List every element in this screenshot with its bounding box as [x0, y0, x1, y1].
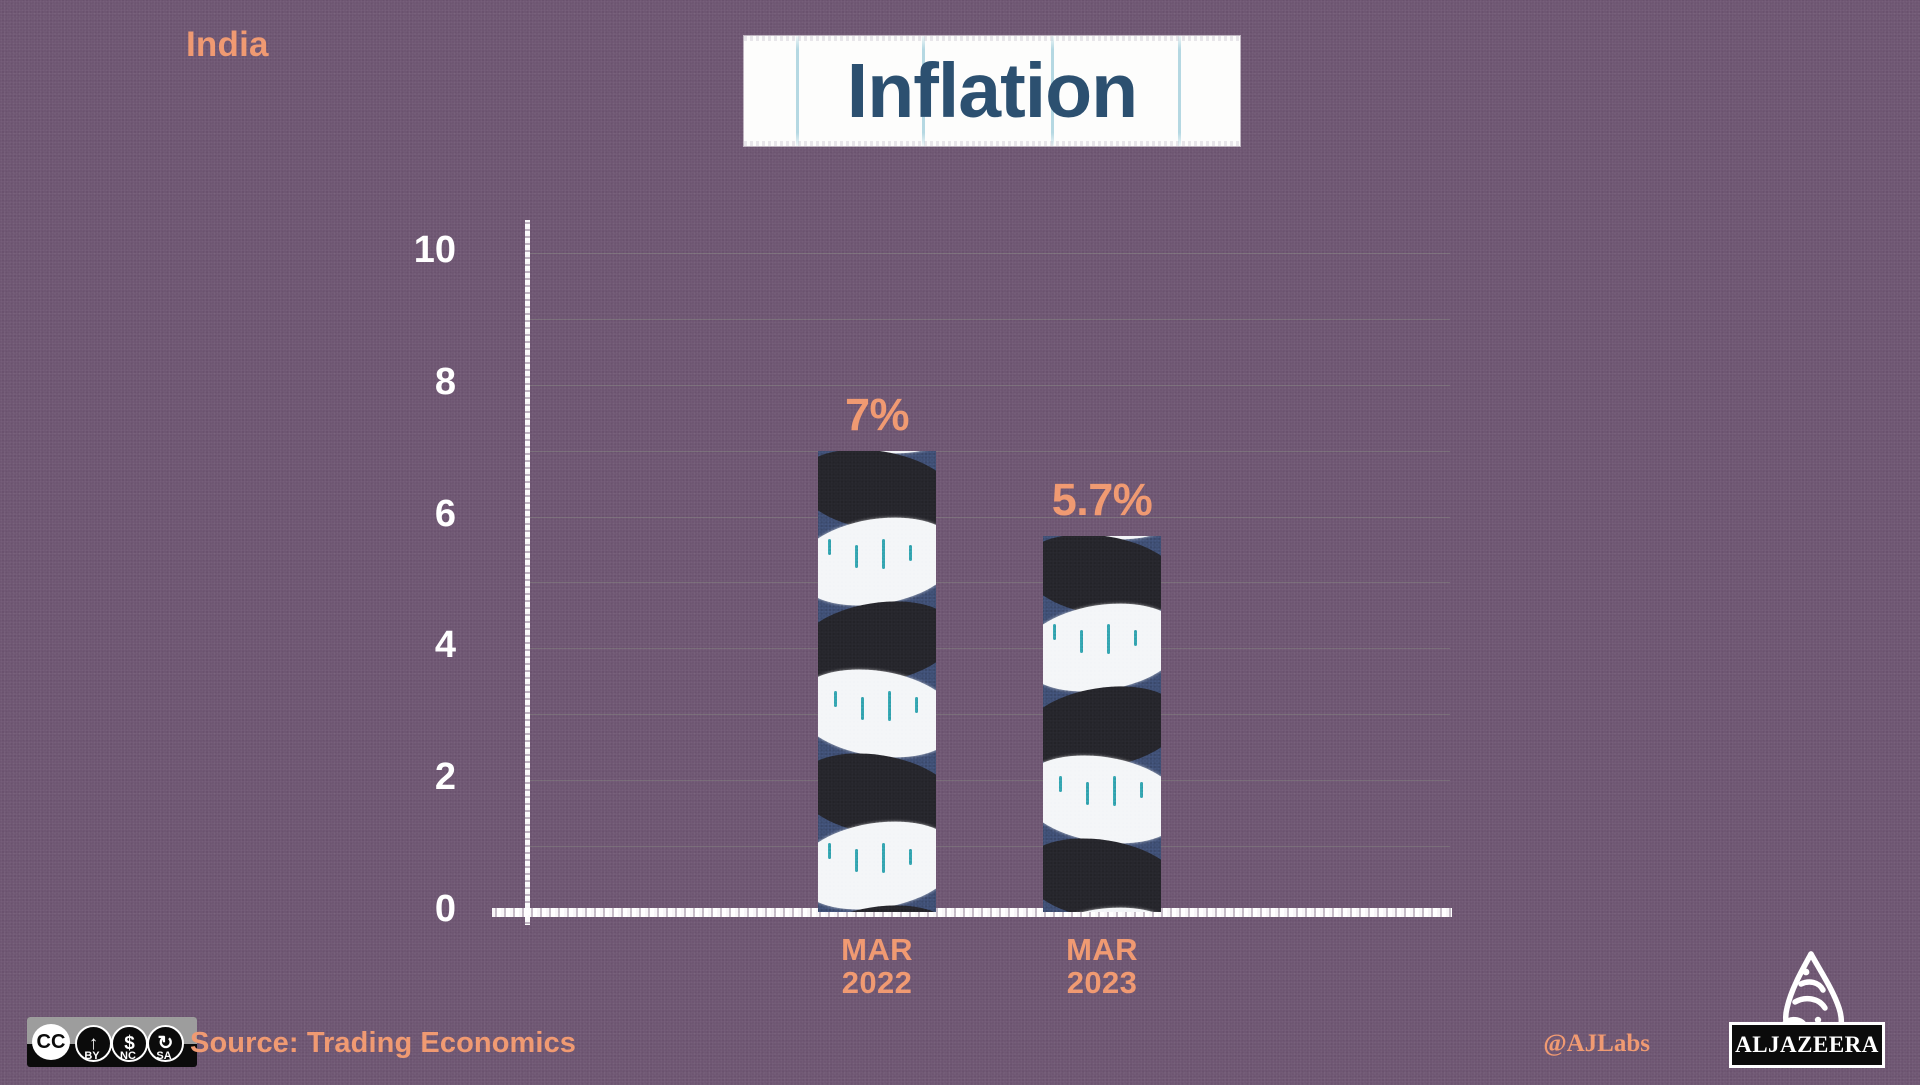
y-tick-label: 10: [336, 229, 456, 272]
gridline: [528, 846, 1450, 847]
x-category-label: MAR2022: [758, 933, 996, 1000]
banner-rule-line: [1178, 36, 1181, 146]
y-tick-label: 2: [336, 756, 456, 799]
x-category-label-line: MAR: [983, 933, 1221, 966]
gridline: [528, 714, 1450, 715]
bar: [818, 451, 936, 912]
x-category-label: MAR2023: [983, 933, 1221, 1000]
banner-rule-line: [796, 36, 799, 146]
title-banner: Inflation: [744, 36, 1240, 146]
bar-grain-texture: [818, 451, 936, 912]
y-tick-label: 8: [336, 361, 456, 404]
x-category-label-line: 2023: [983, 966, 1221, 999]
bar: [1043, 536, 1161, 912]
gridline: [528, 319, 1450, 320]
y-tick-label: 6: [336, 493, 456, 536]
x-category-label-line: 2022: [758, 966, 996, 999]
bar-value-label: 5.7%: [983, 474, 1221, 526]
page-title: Inflation: [847, 53, 1137, 130]
x-axis-baseline: [492, 908, 1452, 917]
y-tick-label: 4: [336, 624, 456, 667]
banner-bottom-edge: [744, 141, 1240, 146]
bar-chart: 1086420 7%MAR20225.7%MAR2023: [0, 0, 1920, 1085]
country-label: India: [186, 25, 269, 65]
banner-top-edge: [744, 36, 1240, 41]
y-axis-line: [525, 220, 530, 925]
gridline: [528, 385, 1450, 386]
bar-grain-texture: [1043, 536, 1161, 912]
gridline: [528, 780, 1450, 781]
y-tick-label: 0: [336, 888, 456, 931]
gridline: [528, 253, 1450, 254]
gridline: [528, 582, 1450, 583]
bar-value-label: 7%: [758, 389, 996, 441]
gridline: [528, 648, 1450, 649]
x-category-label-line: MAR: [758, 933, 996, 966]
gridline: [528, 451, 1450, 452]
